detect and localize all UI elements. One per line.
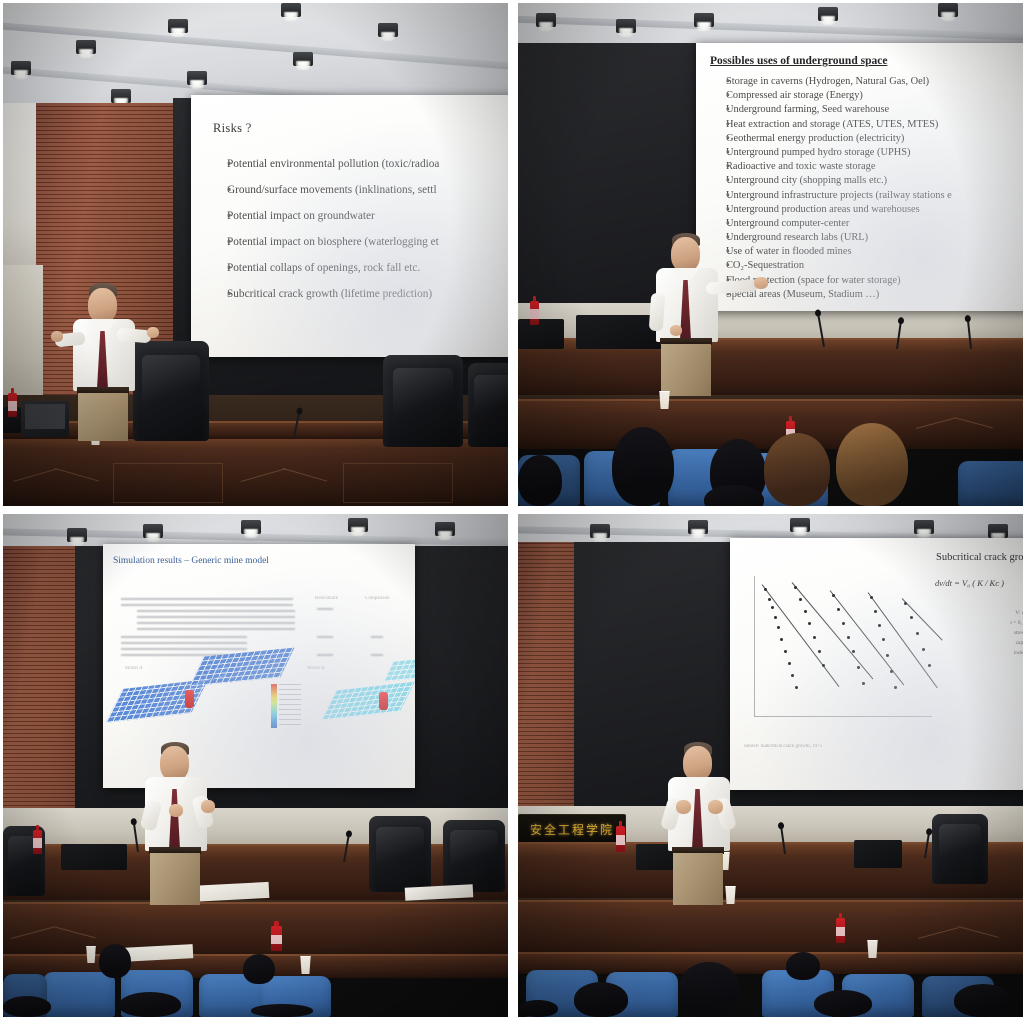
department-banner: 安全工程学院 [518, 814, 626, 844]
ceiling-light [536, 13, 556, 27]
upper-wall-strip [3, 808, 508, 848]
plot-point [922, 648, 925, 651]
slide-equation: dv/dt = V₀ ( K / Kᴄ ) [935, 578, 1004, 588]
office-chair [468, 363, 508, 447]
plot-series-line [902, 598, 943, 640]
plot-point [777, 626, 780, 629]
mine-mesh-cyan [321, 682, 415, 721]
plot-point [852, 650, 855, 653]
audience-head [99, 944, 131, 978]
slide-table-header: Benchmark [315, 596, 338, 601]
speaker [664, 742, 774, 902]
plot-point [808, 622, 811, 625]
audience-head [612, 427, 674, 506]
office-chair [369, 816, 431, 892]
audience-head [518, 1000, 558, 1017]
plot-point [894, 686, 897, 689]
plot-point [910, 616, 913, 619]
crack-growth-plot [744, 576, 934, 726]
slide-bullet: Compressed air storage (Energy) [710, 90, 1023, 101]
office-chair [932, 814, 988, 884]
slide-bullet: Underground farming, Seed warehouse [710, 104, 1023, 115]
plot-point [795, 686, 798, 689]
plot-point [832, 594, 835, 597]
speaker-head [160, 746, 189, 781]
ceiling-light [111, 89, 131, 103]
panel-bottom-left[interactable]: Simulation results – Generic mine model … [3, 514, 508, 1017]
plot-point [764, 588, 767, 591]
bottle-label [33, 838, 42, 847]
audience-head [836, 423, 908, 506]
audience-head [243, 954, 275, 984]
plot-point [804, 610, 807, 613]
speaker-head [671, 237, 700, 272]
plot-y-axis [754, 576, 755, 716]
wood-wall-panel [518, 542, 574, 824]
plot-point [774, 616, 777, 619]
audience-head [3, 996, 51, 1017]
audience-seat [958, 461, 1023, 506]
speaker-left-arm [649, 293, 666, 332]
slide-table-header: Comparison [365, 596, 389, 601]
speaker [143, 742, 253, 902]
ceiling-light [348, 518, 368, 532]
plot-point [794, 586, 797, 589]
ceiling-light [241, 520, 261, 534]
bottle-label [273, 935, 282, 945]
audience-head [574, 982, 628, 1017]
slide-bullet: Unterground production areas und warehou… [710, 204, 1023, 215]
audience-head [954, 984, 1012, 1017]
slide-bullet: Potential collaps of openings, rock fall… [213, 262, 508, 274]
water-bottle [33, 830, 42, 854]
speaker-trousers [661, 344, 711, 396]
plot-point [780, 638, 783, 641]
ceiling-light [143, 524, 163, 538]
plot-point [818, 650, 821, 653]
panel-bottom-right[interactable]: Subcritical crack growt [518, 514, 1023, 1017]
water-bottle [836, 918, 845, 943]
plot-point [822, 664, 825, 667]
audience-seat [43, 972, 115, 1017]
lower-desk [518, 399, 1023, 449]
bottle-label [8, 401, 17, 410]
speaker-right-hand [708, 800, 723, 814]
plot-point [882, 638, 885, 641]
panel-top-left[interactable]: Risks ? Potential environmental pollutio… [3, 3, 508, 506]
audience-head [786, 952, 820, 980]
plot-point [847, 636, 850, 639]
ceiling-light [790, 518, 810, 532]
ceiling-light [378, 23, 398, 37]
speaker-right-hand [201, 800, 215, 813]
mine-shaft-marker [379, 692, 388, 710]
projection-screen-frame: Risks ? Potential environmental pollutio… [191, 95, 508, 357]
slide-body-text-blurred [121, 636, 247, 656]
slide-bullet: Unterground city (shopping malls etc.) [710, 175, 1023, 186]
slide-body-text-blurred [317, 608, 333, 614]
slide-bullet: Potential environmental pollution (toxic… [213, 158, 508, 170]
slide-bullet: Radioactive and toxic waste storage [710, 161, 1023, 172]
podium-panel [113, 463, 223, 503]
podium-trim [55, 468, 99, 482]
ceiling-light [293, 52, 313, 66]
plot-point [890, 670, 893, 673]
slide-bullet: Potential impact on biosphere (waterlogg… [213, 236, 508, 248]
ceiling-light [187, 71, 207, 85]
slide-bullet: Unterground infrastructure projects (rai… [710, 190, 1023, 201]
slide-title: Risks ? [213, 121, 508, 136]
mine-mesh-cyan [383, 658, 415, 681]
plot-point [842, 622, 845, 625]
ceiling-light [688, 520, 708, 534]
slide-note: V: cr [1015, 610, 1023, 616]
speaker-right-hand [754, 277, 768, 289]
slide-body-text-blurred [371, 636, 383, 642]
speaker-right-arm [706, 279, 759, 295]
monitor [854, 840, 902, 868]
ceiling-light [590, 524, 610, 538]
office-chair [383, 355, 463, 447]
plot-point [837, 608, 840, 611]
plot-point [870, 596, 873, 599]
slide-bullet-list: Potential environmental pollution (toxic… [213, 158, 508, 300]
lower-desk [3, 902, 508, 958]
speaker-left-hand [51, 331, 63, 342]
podium-trim [283, 468, 327, 482]
slide-bullet: Heat extraction and storage (ATES, UTES,… [710, 119, 1023, 130]
ceiling-light [76, 40, 96, 54]
photo-collage: Risks ? Potential environmental pollutio… [0, 0, 1024, 1022]
slide-bullet: Unterground pumped hydro storage (UPHS) [710, 147, 1023, 158]
podium-panel [343, 463, 453, 503]
slide-body-text-blurred [121, 598, 293, 606]
slide-note: index [1014, 650, 1023, 656]
audience-head [678, 962, 740, 1017]
plot-point [862, 682, 865, 685]
water-bottle [273, 926, 282, 951]
speaker-head [88, 288, 117, 323]
plot-point [788, 662, 791, 665]
plot-point [878, 624, 881, 627]
plot-point [857, 666, 860, 669]
wood-wall-panel [3, 546, 75, 826]
slide-bullet: Geothermal energy production (electricit… [710, 133, 1023, 144]
plot-point [874, 610, 877, 613]
ceiling-light [281, 3, 301, 17]
speaker-trousers [673, 853, 723, 905]
ceiling-light [988, 524, 1008, 538]
colour-legend-bar [271, 684, 277, 728]
slide-title: Subcritical crack growt [936, 552, 1023, 563]
plot-point [813, 636, 816, 639]
ceiling-light [67, 528, 87, 542]
podium-trim [241, 468, 285, 482]
plot-point [916, 632, 919, 635]
speaker-trousers [150, 853, 200, 905]
speaker-right-hand [147, 327, 159, 338]
projection-screen: Risks ? Potential environmental pollutio… [191, 95, 508, 357]
audience-head [814, 990, 872, 1017]
slide-bullet: Subcritical crack growth (lifetime predi… [213, 288, 508, 300]
audience-head [119, 992, 181, 1017]
plot-point [791, 674, 794, 677]
speaker-trousers [78, 393, 128, 441]
audience-head [764, 433, 830, 506]
diagram-label-right: Model B [307, 666, 325, 671]
plot-point [928, 664, 931, 667]
speaker [55, 283, 165, 443]
slide-body-text-blurred [137, 610, 295, 632]
audience-head [251, 1004, 313, 1017]
water-bottle [530, 301, 539, 325]
podium-trim [13, 468, 57, 482]
plot-point [799, 598, 802, 601]
audience-head [518, 455, 562, 506]
slide-bullet: Unterground computer-center [710, 218, 1023, 229]
slide-note: t = 0, 1 [1010, 620, 1023, 626]
slide-bullet: Potential impact on groundwater [213, 210, 508, 222]
plot-point [904, 602, 907, 605]
bottle-label [836, 927, 845, 937]
plot-point [886, 654, 889, 657]
slide-bullet: Storage in caverns (Hydrogen, Natural Ga… [710, 76, 1023, 87]
plot-point [771, 606, 774, 609]
ceiling-light [914, 520, 934, 534]
speaker-left-hand [676, 800, 691, 814]
plot-point [784, 650, 787, 653]
ceiling-light [435, 522, 455, 536]
monitor [61, 844, 127, 870]
ceiling-light [168, 19, 188, 33]
slide-bullet: Ground/surface movements (inklinations, … [213, 184, 508, 196]
ceiling-light [938, 3, 958, 17]
ceiling-light [694, 13, 714, 27]
colour-legend-ticks [279, 684, 301, 728]
slide-note: stress [1014, 630, 1023, 636]
plot-point [768, 598, 771, 601]
slide-body-text-blurred [317, 636, 333, 642]
ceiling-light [616, 19, 636, 33]
slide-title: Possibles uses of underground space [710, 55, 1023, 67]
plot-series-line [868, 592, 938, 688]
speaker-left-hand [670, 325, 682, 336]
office-chair [443, 820, 505, 892]
slide-body-text-blurred [317, 654, 333, 660]
monitor [518, 319, 564, 349]
ceiling-light [11, 61, 31, 75]
ceiling-light [818, 7, 838, 21]
plot-x-axis [754, 716, 932, 717]
panel-top-right[interactable]: Possibles uses of underground space Stor… [518, 3, 1023, 506]
slide-note: zapo [1016, 640, 1023, 646]
bottle-label [530, 309, 539, 318]
bottle-label [616, 835, 625, 845]
speaker-head [683, 746, 712, 781]
water-bottle [616, 826, 625, 852]
water-bottle [8, 393, 17, 417]
mine-shaft-marker [185, 690, 194, 708]
slide-title: Simulation results – Generic mine model [113, 556, 269, 566]
slide-body-text-blurred [371, 654, 383, 660]
speaker-left-hand [169, 804, 183, 817]
diagram-label-left: Model A [125, 666, 143, 671]
speaker [648, 233, 768, 393]
